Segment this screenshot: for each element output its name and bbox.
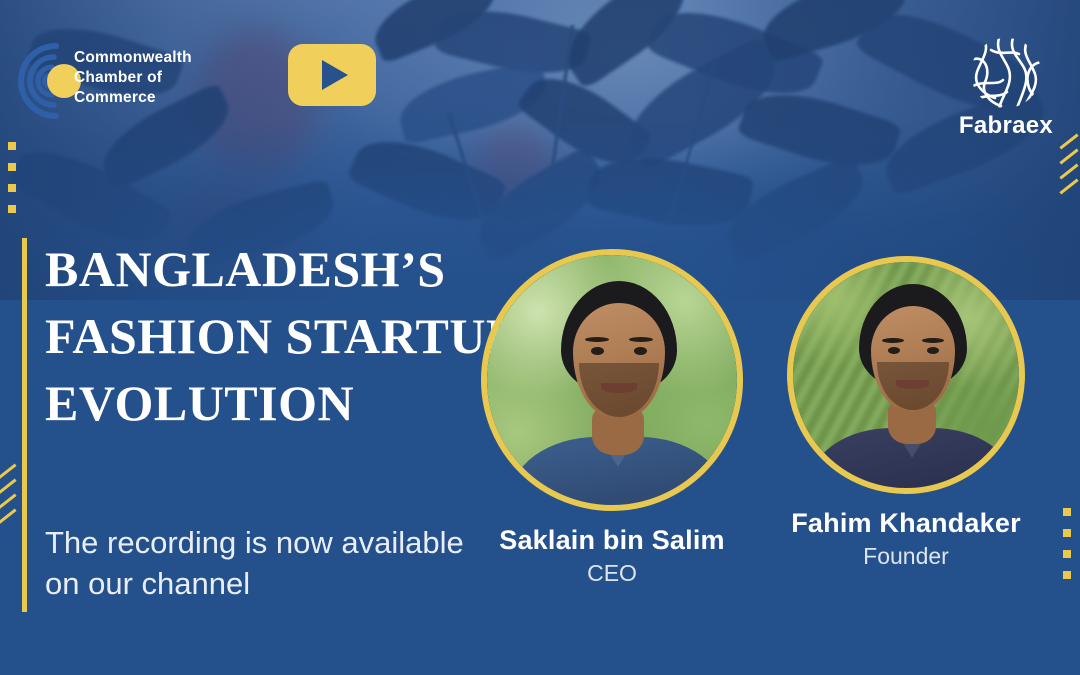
portrait-mouth [601, 383, 637, 393]
speaker-name: Saklain bin Salim [481, 525, 743, 556]
chamber-logo-text: Commonwealth Chamber of Commerce [74, 48, 192, 108]
decor-dots-left-top [8, 142, 16, 226]
promo-graphic: Commonwealth Chamber of Commerce Fab [0, 0, 1080, 675]
fabraex-logo[interactable]: Fabraex [948, 36, 1064, 140]
portrait-brow [629, 337, 653, 342]
youtube-play-icon [322, 60, 348, 90]
speaker-card-1: Saklain bin Salim CEO [481, 249, 743, 587]
speaker-role: CEO [481, 560, 743, 587]
commonwealth-chamber-logo[interactable]: Commonwealth Chamber of Commerce [12, 38, 212, 124]
decor-dots-right-bottom [1063, 508, 1071, 592]
speaker-role: Founder [787, 543, 1025, 570]
avatar [787, 256, 1025, 494]
portrait-eye [634, 347, 647, 355]
avatar [481, 249, 743, 511]
portrait-brow [922, 338, 944, 343]
headline-accent-bar [22, 238, 27, 612]
portrait-eye [927, 347, 939, 354]
portrait-brow [585, 337, 609, 342]
decor-dashes-left-bottom [0, 470, 18, 530]
page-subtitle: The recording is now available on our ch… [45, 522, 475, 604]
page-title: Bangladesh’s Fashion Startup Evolution [45, 236, 515, 437]
speaker-name: Fahim Khandaker [787, 508, 1025, 539]
portrait-eye [888, 347, 900, 354]
decor-dashes-right-top [1058, 140, 1080, 200]
fabraex-logo-text: Fabraex [948, 112, 1064, 140]
youtube-play-button[interactable] [288, 44, 376, 106]
woven-threads-circle-icon [969, 36, 1043, 110]
portrait-mouth [896, 380, 929, 389]
speaker-card-2: Fahim Khandaker Founder [787, 256, 1025, 570]
portrait-brow [882, 338, 904, 343]
portrait-eye [591, 347, 604, 355]
